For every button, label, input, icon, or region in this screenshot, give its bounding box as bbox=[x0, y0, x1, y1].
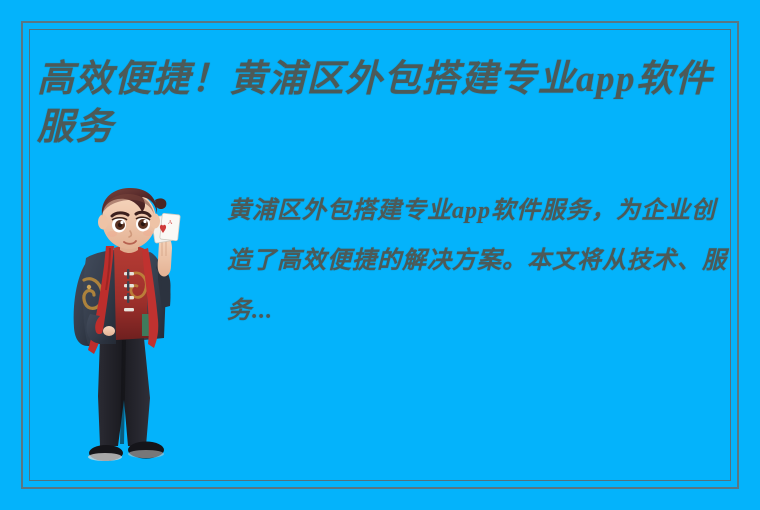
svg-text:A: A bbox=[168, 220, 173, 226]
page-title: 高效便捷！黄浦区外包搭建专业app软件服务 bbox=[37, 56, 743, 152]
right-ear bbox=[150, 214, 160, 229]
character-illustration: A bbox=[58, 188, 188, 470]
article-card: 高效便捷！黄浦区外包搭建专业app软件服务 黄浦区外包搭建专业app软件服务，为… bbox=[0, 0, 760, 510]
article-summary: 黄浦区外包搭建专业app软件服务，为企业创造了高效便捷的解决方案。本文将从技术、… bbox=[227, 186, 732, 336]
left-hand bbox=[103, 326, 115, 336]
left-ear bbox=[98, 215, 108, 230]
